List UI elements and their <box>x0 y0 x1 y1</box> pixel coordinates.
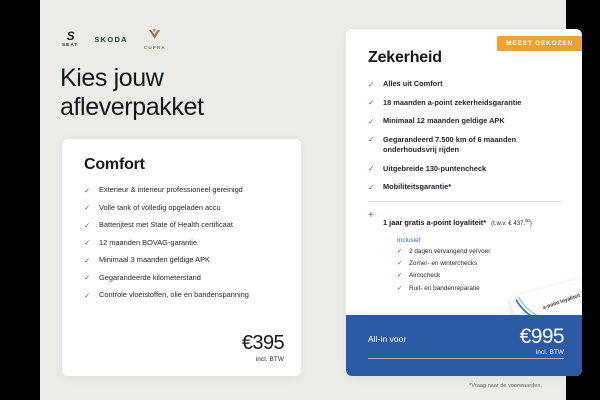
inclusief-list: ✓2 dagen vervangend vervoer ✓Zomer- en w… <box>397 248 568 293</box>
list-item: ✓Alles uit Comfort <box>368 79 566 90</box>
inclusief-label: Inclusief <box>397 237 568 244</box>
package-card-comfort[interactable]: Comfort ✓Exterieur & interieur professio… <box>62 139 301 376</box>
list-item: ✓Mobiliteitsgarantie* <box>368 182 566 193</box>
seat-wordmark: SEAT <box>62 43 78 48</box>
inclusief-text: Aircocheck <box>409 272 440 279</box>
feature-text: Gegarandeerd 7.500 km of 6 maanden onder… <box>383 135 516 155</box>
inclusief-text: 2 dagen vervangend vervoer <box>409 248 490 255</box>
check-icon: ✓ <box>368 117 374 127</box>
check-icon: ✓ <box>368 80 374 90</box>
feature-text: 12 maanden BOVAG-garantie <box>99 238 197 247</box>
plus-icon: + <box>368 211 374 221</box>
list-item: ✓Minimaal 12 maanden geldige APK <box>368 116 566 127</box>
cupra-mark-icon <box>148 28 161 44</box>
check-icon: ✓ <box>368 164 374 174</box>
allin-label: All-in voor <box>368 334 406 344</box>
check-icon: ✓ <box>84 238 90 248</box>
divider <box>368 201 562 202</box>
skoda-wordmark: SKODA <box>94 36 128 44</box>
feature-text: Alles uit Comfort <box>383 79 443 88</box>
zekerheid-price: €995 <box>520 326 564 347</box>
feature-text: Gegarandeerde kilometerstand <box>99 273 201 282</box>
feature-text: Uitgebreide 130-puntencheck <box>383 164 486 173</box>
feature-text: Exterieur & interieur professioneel gere… <box>99 185 243 194</box>
brand-logo-row: S SEAT SKODA CUPRA <box>62 28 166 51</box>
page-title: Kies jouw afleverpakket <box>60 64 300 122</box>
check-icon: ✓ <box>368 135 374 145</box>
check-icon: ✓ <box>397 248 403 257</box>
comfort-price: €395 <box>242 333 284 353</box>
check-icon: ✓ <box>368 98 374 108</box>
footnote: *Vraag naar de voorwaarden. <box>469 383 542 389</box>
list-item: ✓12 maanden BOVAG-garantie <box>84 238 283 249</box>
zekerheid-feature-list: ✓Alles uit Comfort ✓18 maanden a-point z… <box>346 67 582 193</box>
check-icon: ✓ <box>84 273 90 283</box>
inclusief-text: Zomer- en winterchecks <box>409 260 477 267</box>
feature-text: Mobiliteitsgarantie* <box>383 182 451 191</box>
list-item: ✓Controle vloeistoffen, olie en bandensp… <box>84 290 283 301</box>
list-item: ✓18 maanden a-point zekerheidsgarantie <box>368 98 566 109</box>
list-item: ✓Zomer- en winterchecks <box>397 260 568 268</box>
feature-text: Minimaal 3 maanden geldige APK <box>99 255 210 264</box>
comfort-price-block: €395 incl. BTW <box>242 333 284 363</box>
allin-price-bar: All-in voor €995 incl. BTW <box>346 315 582 376</box>
seat-logo: S SEAT <box>62 31 78 48</box>
status-badge: MEEST GEKOZEN <box>497 36 582 51</box>
screenshot-root: S SEAT SKODA CUPRA Kies jouw afleverpakk… <box>0 0 600 400</box>
inclusief-block: Inclusief ✓2 dagen vervangend vervoer ✓Z… <box>397 237 568 293</box>
check-icon: ✓ <box>84 203 90 213</box>
list-item: ✓2 dagen vervangend vervoer <box>397 248 568 256</box>
allin-rule <box>368 358 564 359</box>
list-item: ✓Minimaal 3 maanden geldige APK <box>84 255 283 266</box>
check-icon: ✓ <box>84 221 90 231</box>
comfort-vat-note: incl. BTW <box>242 356 284 363</box>
package-card-zekerheid[interactable]: MEEST GEKOZEN Zekerheid ✓Alles uit Comfo… <box>346 29 582 376</box>
check-icon: ✓ <box>84 256 90 266</box>
check-icon: ✓ <box>397 272 403 281</box>
seat-mark-icon: S <box>67 31 74 41</box>
bonus-title: 1 jaar gratis a-point loyaliteit* <box>383 218 486 227</box>
feature-text: Controle vloeistoffen, olie en bandenspa… <box>99 290 249 299</box>
list-item: ✓Batterijtest met State of Health certif… <box>84 220 283 231</box>
bonus-value-suffix: ) <box>530 220 532 227</box>
promo-canvas: S SEAT SKODA CUPRA Kies jouw afleverpakk… <box>40 0 566 400</box>
feature-text: Batterijtest met State of Health certifi… <box>99 220 233 229</box>
check-icon: ✓ <box>84 186 90 196</box>
check-icon: ✓ <box>84 291 90 301</box>
comfort-title: Comfort <box>62 139 301 174</box>
bonus-value-prefix: (t.w.v. € 437, <box>491 220 525 227</box>
comfort-feature-list: ✓Exterieur & interieur professioneel ger… <box>62 174 301 301</box>
cupra-logo: CUPRA <box>144 28 166 51</box>
feature-text: 18 maanden a-point zekerheidsgarantie <box>383 98 521 107</box>
cupra-wordmark: CUPRA <box>144 46 166 51</box>
feature-text: Minimaal 12 maanden geldige APK <box>383 116 505 125</box>
list-item: ✓Volle tank of volledig opgeladen accu <box>84 203 283 214</box>
list-item: ✓Gegarandeerde kilometerstand <box>84 273 283 284</box>
check-icon: ✓ <box>397 260 403 269</box>
list-item: ✓Gegarandeerd 7.500 km of 6 maanden onde… <box>368 135 566 156</box>
check-icon: ✓ <box>368 183 374 193</box>
inclusief-text: Ruit- en bandenreparatie <box>409 285 480 292</box>
list-item: ✓Aircocheck <box>397 272 568 280</box>
feature-text: Volle tank of volledig opgeladen accu <box>99 203 221 212</box>
list-item: ✓Exterieur & interieur professioneel ger… <box>84 185 283 196</box>
zekerheid-vat-note: incl. BTW <box>536 349 564 356</box>
loyalty-bonus-block: + 1 jaar gratis a-point loyaliteit*(t.w.… <box>368 212 568 293</box>
check-icon: ✓ <box>397 285 403 294</box>
list-item: ✓Uitgebreide 130-puntencheck <box>368 164 566 175</box>
bonus-value: (t.w.v. € 437,50) <box>491 220 532 227</box>
skoda-logo: SKODA <box>94 36 128 44</box>
